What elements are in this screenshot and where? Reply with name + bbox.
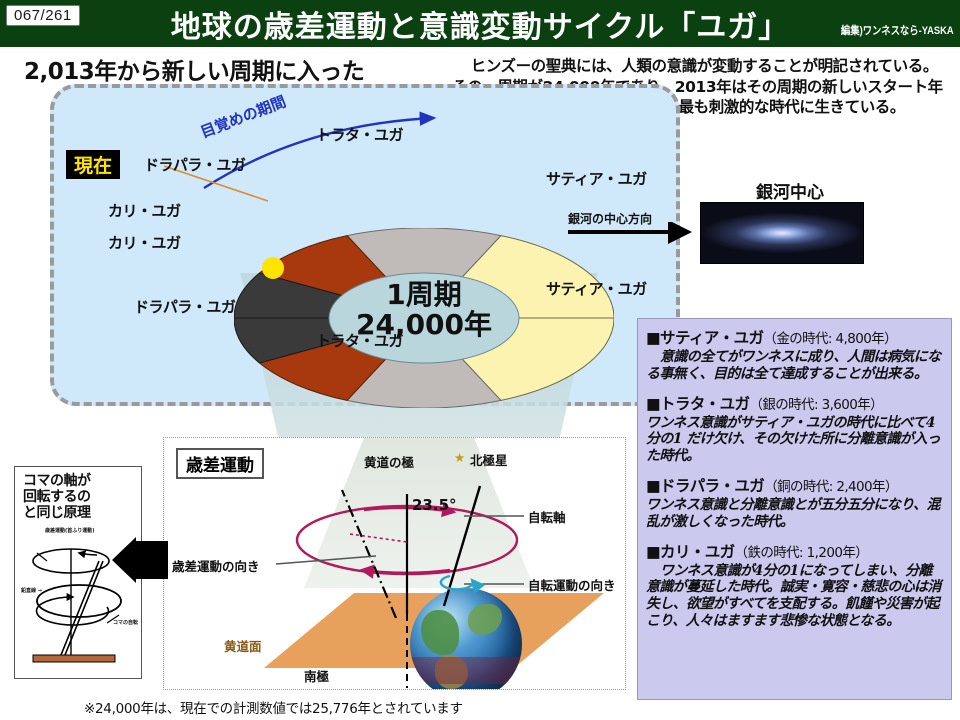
- label-precession-direction: 歳差運動の向き: [172, 556, 260, 575]
- yuga-descriptions-panel: ■サティア・ユガ（金の時代: 4,800年） 意識の全てがワンネスに成り、人間は…: [637, 318, 952, 700]
- label-vertical-line: 鉛直線 →: [21, 587, 42, 594]
- yuga-2-name: ■ドラパラ・ユガ: [646, 477, 764, 495]
- yuga-2-paren: （銅の時代: 2,400年）: [764, 479, 898, 495]
- polaris-star-icon: ★: [454, 450, 465, 465]
- precession-title-box: 歳差運動: [176, 448, 264, 479]
- label-ecliptic-pole: 黄道の極: [364, 452, 414, 471]
- yuga-entry-2-title: ■ドラパラ・ユガ（銅の時代: 2,400年）: [646, 474, 943, 496]
- yuga-0-paren: （金の時代: 4,800年）: [763, 331, 897, 347]
- label-rotation-axis: 自転軸: [528, 507, 566, 526]
- galaxy-center-title: 銀河中心: [756, 178, 824, 203]
- label-ecliptic-plane: 黄道面: [224, 636, 262, 655]
- yuga-entry-1-title: ■トラタ・ユガ（銀の時代: 3,600年）: [646, 392, 943, 414]
- yuga-entry-3-body: ワンネス意識が4分の1になってしまい、分離意識が蔓延した時代。誠実・寛容・慈悲の…: [646, 563, 943, 630]
- subtitle: 2,013年から新しい周期に入った: [24, 52, 364, 86]
- big-left-arrow-icon: [112, 537, 168, 583]
- label-kali-upper: カリ・ユガ: [108, 200, 181, 221]
- yuga-3-paren: （鉄の時代: 1,200年）: [735, 545, 869, 561]
- precession-diagram-panel: 歳差運動 黄道の極 ★ 北極星 23.5° 自転軸 歳差運動の向き 自転運動の向…: [163, 437, 626, 690]
- top-title-line-2: 回転するの: [23, 489, 135, 505]
- label-top-spin: コマの自転: [113, 619, 138, 626]
- yuga-entry-2-body: ワンネス意識と分離意識とが五分五分になり、混乱が激しくなった時代。: [646, 497, 943, 531]
- label-top-precession: 歳差運動(首ふり運動): [45, 527, 95, 534]
- editor-credit: 編集)ワンネスなら-YASKA: [841, 22, 954, 38]
- yuga-0-name: ■サティア・ユガ: [646, 329, 763, 347]
- label-polaris: 北極星: [470, 450, 508, 469]
- label-dvapara-bottom: ドラパラ・ユガ: [134, 296, 235, 317]
- spinning-top-title: コマの軸が 回転するの と同じ原理: [23, 473, 135, 521]
- label-dvapara-top: ドラパラ・ユガ: [144, 154, 245, 175]
- yuga-entry-0-body: 意識の全てがワンネスに成り、人間は病気になる事無く、目的は全て達成することが出来…: [646, 349, 943, 383]
- label-kali-lower: カリ・ユガ: [108, 232, 181, 253]
- top-title-line-3: と同じ原理: [23, 505, 135, 521]
- galaxy-image: [700, 202, 864, 264]
- label-treta-top: トラタ・ユガ: [316, 124, 403, 145]
- now-badge: 現在: [66, 150, 120, 179]
- footer-note: ※24,000年は、現在での計測数値では25,776年とされています: [84, 697, 463, 717]
- yuga-3-name: ■カリ・ユガ: [646, 543, 735, 561]
- yuga-entry-3-title: ■カリ・ユガ（鉄の時代: 1,200年）: [646, 540, 943, 562]
- header-bar: 067/261 地球の歳差運動と意識変動サイクル「ユガ」 編集)ワンネスなら-Y…: [0, 0, 960, 47]
- lead-line-1: ヒンズーの聖典には、人類の意識が変動することが明記されている。: [452, 56, 938, 77]
- top-title-line-1: コマの軸が: [23, 473, 135, 489]
- yuga-entry-0-title: ■サティア・ユガ（金の時代: 4,800年）: [646, 326, 943, 348]
- label-tilt-angle: 23.5°: [412, 496, 457, 514]
- page-title: 地球の歳差運動と意識変動サイクル「ユガ」: [0, 2, 960, 46]
- yuga-1-paren: （銀の時代: 3,600年）: [749, 397, 883, 413]
- yuga-1-name: ■トラタ・ユガ: [646, 395, 749, 413]
- yuga-entry-1-body: ワンネス意識がサティア・ユガの時代に比べて4分の1 だけ欠け、その欠けた所に分離…: [646, 415, 943, 465]
- label-rotation-direction: 自転運動の向き: [528, 575, 616, 594]
- label-satya-top: サティア・ユガ: [546, 168, 647, 189]
- label-treta-bottom: トラタ・ユガ: [316, 330, 403, 351]
- label-satya-bottom: サティア・ユガ: [546, 278, 647, 299]
- label-south-pole: 南極: [304, 666, 329, 685]
- galaxy-direction-arrow: [560, 222, 710, 246]
